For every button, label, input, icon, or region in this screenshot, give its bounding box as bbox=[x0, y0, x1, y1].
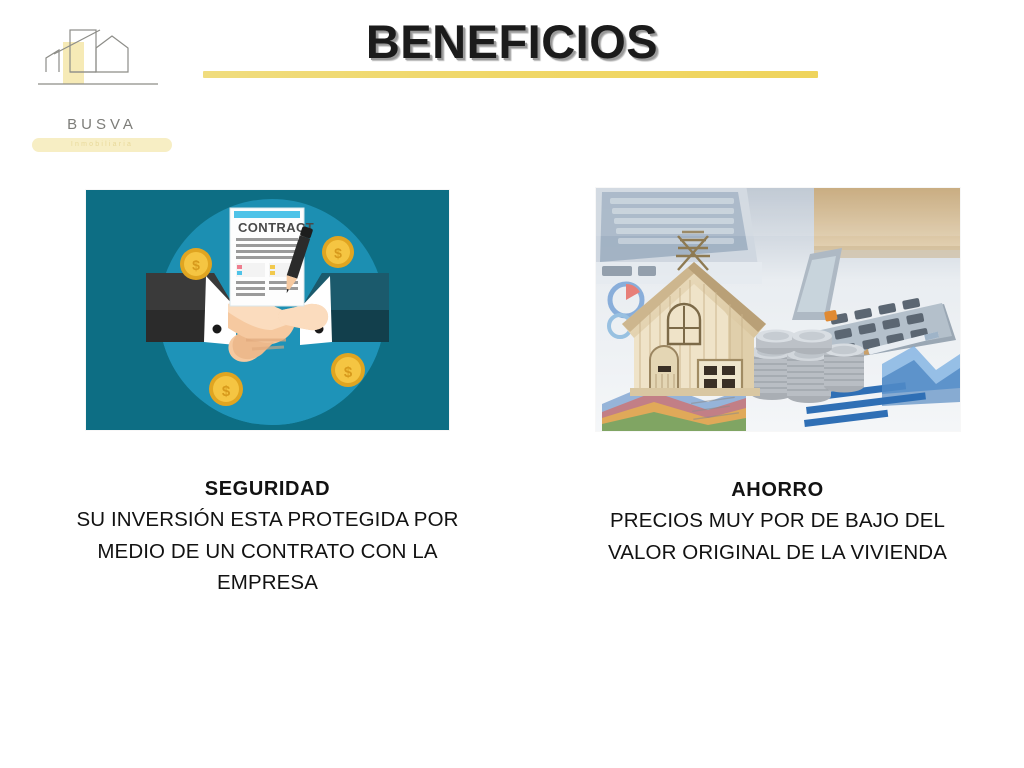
svg-text:$: $ bbox=[192, 257, 200, 273]
title-underline-rule bbox=[203, 71, 818, 78]
benefit-title: AHORRO bbox=[540, 475, 1015, 505]
benefit-body-line: PRECIOS MUY POR DE BAJO DEL bbox=[540, 505, 1015, 537]
benefit-body: SU INVERSIÓN ESTA PROTEGIDA POR MEDIO DE… bbox=[30, 504, 505, 599]
benefit-caption-ahorro: AHORRO PRECIOS MUY POR DE BAJO DEL VALOR… bbox=[540, 475, 1015, 568]
benefit-body: PRECIOS MUY POR DE BAJO DEL VALOR ORIGIN… bbox=[540, 505, 1015, 568]
logo-tagline: Inmobiliaria bbox=[32, 138, 172, 152]
svg-text:$: $ bbox=[222, 383, 231, 400]
benefit-body-line: EMPRESA bbox=[30, 567, 505, 599]
handshake-contract-illustration: CONTRACT bbox=[86, 190, 449, 430]
slide-canvas: BUSVA Inmobiliaria BENEFICIOS bbox=[0, 0, 1024, 768]
benefit-body-line: SU INVERSIÓN ESTA PROTEGIDA POR bbox=[30, 504, 505, 536]
house-model-savings-photo bbox=[596, 188, 960, 431]
page-title: BENEFICIOS bbox=[0, 14, 1024, 69]
benefit-body-line: MEDIO DE UN CONTRATO CON LA bbox=[30, 536, 505, 568]
svg-text:$: $ bbox=[334, 245, 342, 261]
svg-text:$: $ bbox=[344, 364, 353, 381]
benefit-card-seguridad: CONTRACT bbox=[30, 188, 505, 599]
logo-wordmark: BUSVA bbox=[32, 116, 172, 133]
benefit-card-ahorro: AHORRO PRECIOS MUY POR DE BAJO DEL VALOR… bbox=[540, 188, 1015, 568]
benefit-caption-seguridad: SEGURIDAD SU INVERSIÓN ESTA PROTEGIDA PO… bbox=[30, 474, 505, 599]
benefit-title: SEGURIDAD bbox=[30, 474, 505, 504]
benefit-body-line: VALOR ORIGINAL DE LA VIVIENDA bbox=[540, 537, 1015, 569]
